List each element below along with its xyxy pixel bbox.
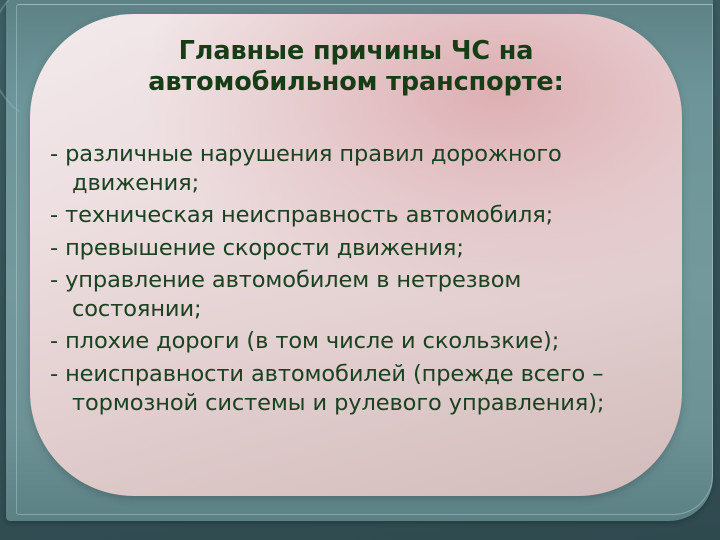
bullet-item: - превышение скорости движения; <box>36 234 682 263</box>
bullet-item: - управление автомобилем в нетрезвом сос… <box>36 266 682 323</box>
causes-bullet-list: - различные нарушения правил дорожного д… <box>36 140 682 421</box>
slide-title: Главные причины ЧС на автомобильном тран… <box>66 36 646 97</box>
bullet-item: - техническая неисправность автомобиля; <box>36 201 682 230</box>
content-panel: Главные причины ЧС на автомобильном тран… <box>30 14 682 496</box>
content-panel-inner: Главные причины ЧС на автомобильном тран… <box>30 14 682 496</box>
bullet-item: - различные нарушения правил дорожного д… <box>36 140 682 197</box>
slide-canvas: Главные причины ЧС на автомобильном тран… <box>0 0 720 540</box>
bullet-item: - плохие дороги (в том числе и скользкие… <box>36 327 682 356</box>
bullet-item: - неисправности автомобилей (прежде всег… <box>36 360 682 417</box>
